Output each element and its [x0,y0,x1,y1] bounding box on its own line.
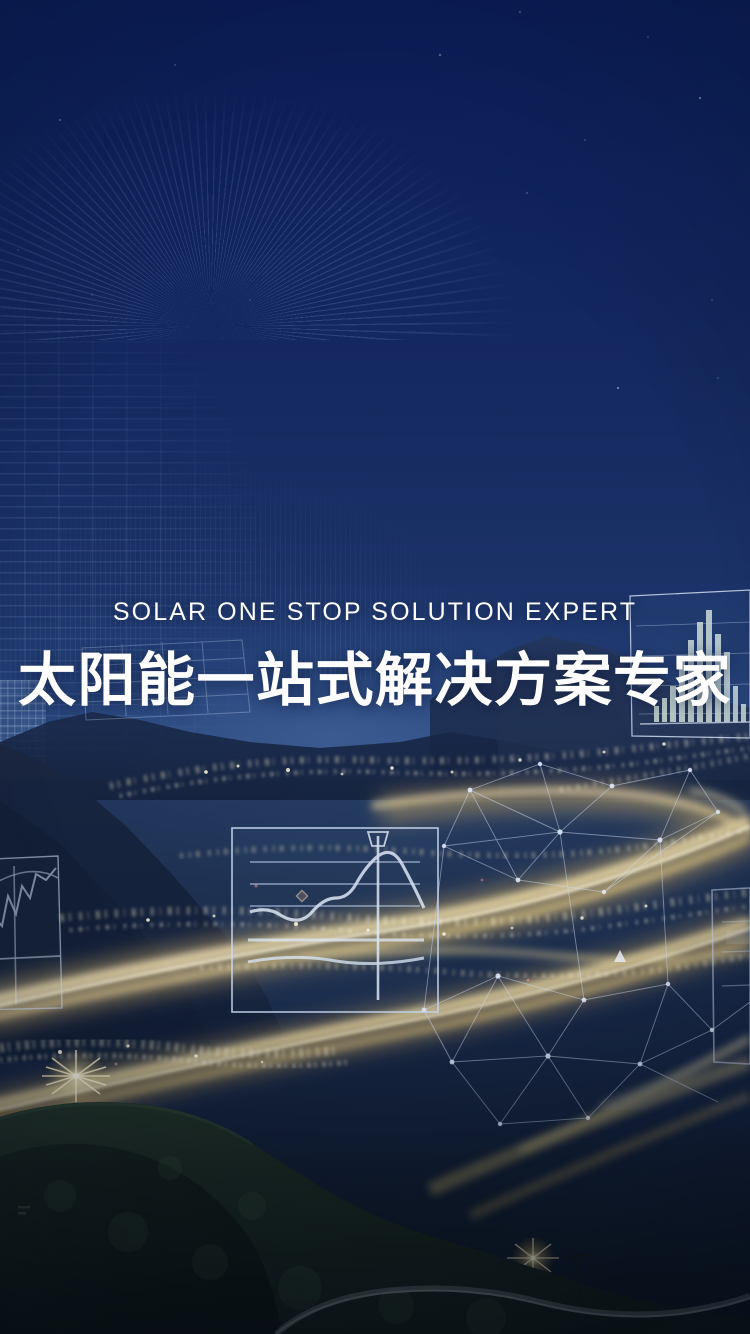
hero-text-block: SOLAR ONE STOP SOLUTION EXPERT 太阳能一站式解决方… [0,600,750,712]
hero-eyebrow: SOLAR ONE STOP SOLUTION EXPERT [0,600,750,625]
hero-headline: 太阳能一站式解决方案专家 [0,651,750,712]
hud-left-graph-panel [0,856,62,1010]
hud-line-chart-panel [232,828,438,1012]
hero-banner: SOLAR ONE STOP SOLUTION EXPERT 太阳能一站式解决方… [0,0,750,1334]
